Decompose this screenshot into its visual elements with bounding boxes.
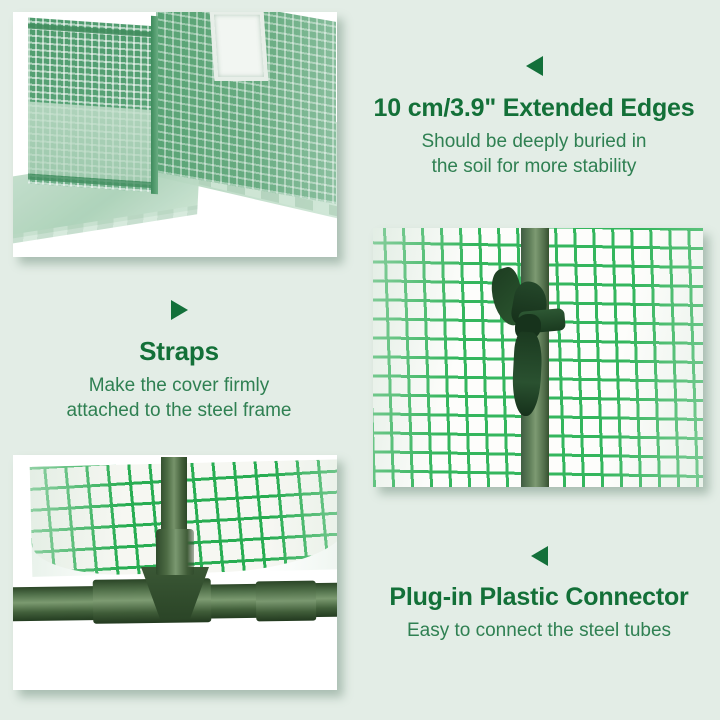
feature-subline-line1: Make the cover firmly (24, 373, 334, 398)
infographic-canvas: 10 cm/3.9" Extended Edges Should be deep… (0, 0, 720, 720)
feature-headline: Straps (24, 337, 334, 367)
feature-subline: Make the cover firmly attached to the st… (24, 373, 334, 423)
connector-sleeve-horizontal-right (256, 581, 317, 622)
feature-subline: Easy to connect the steel tubes (364, 618, 714, 643)
triangle-left-icon (531, 546, 548, 566)
feature-subline-line1: Easy to connect the steel tubes (364, 618, 714, 643)
photo-panel-connector (13, 455, 337, 690)
frame-rail-top (28, 23, 158, 37)
feature-headline: 10 cm/3.9" Extended Edges (355, 94, 713, 123)
triangle-left-icon (526, 56, 543, 76)
feature-headline: Plug-in Plastic Connector (364, 583, 714, 612)
greenhouse-wall-right (156, 12, 336, 204)
feature-text-connector: Plug-in Plastic Connector Easy to connec… (364, 546, 714, 643)
wall-lower-band (28, 101, 158, 182)
strap-tail (511, 331, 543, 416)
photo-panel-straps (373, 228, 703, 487)
greenhouse-wall-left (28, 17, 158, 192)
greenhouse-window (210, 12, 269, 81)
greenhouse-corner-photo (13, 12, 337, 257)
strap-on-tube-photo (373, 228, 703, 487)
greenhouse-corner-post (151, 16, 158, 194)
feature-subline-line1: Should be deeply buried in (355, 129, 713, 154)
feature-subline-line2: the soil for more stability (355, 154, 713, 179)
feature-text-extended-edges: 10 cm/3.9" Extended Edges Should be deep… (355, 56, 713, 179)
feature-text-straps: Straps Make the cover firmly attached to… (24, 300, 334, 423)
strap-tied-bow (489, 266, 551, 416)
feature-subline-line2: attached to the steel frame (24, 398, 334, 423)
feature-subline: Should be deeply buried in the soil for … (355, 129, 713, 179)
connector-sleeve-vertical (156, 529, 194, 575)
plastic-connector-photo (13, 455, 337, 690)
photo-panel-extended-edges (13, 12, 337, 257)
triangle-right-icon (171, 300, 188, 320)
